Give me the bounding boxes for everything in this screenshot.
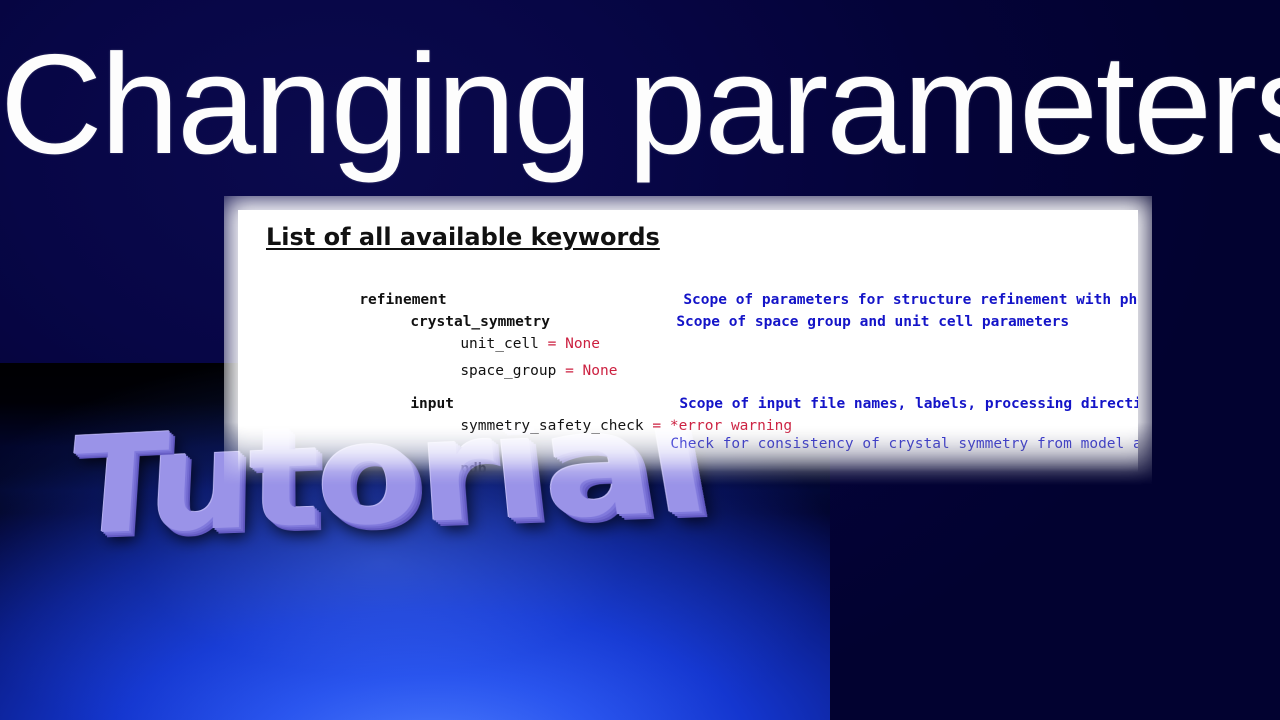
- slide-root: Changing parameters Tutorial Tutorial Li…: [0, 0, 1280, 720]
- code-row-symmetry-check-note: Check for consistency of crystal symmetr…: [583, 420, 1138, 468]
- keyword-space-group: space_group: [460, 363, 556, 379]
- code-row-crystal-symmetry-desc: Scope of space group and unit cell param…: [589, 298, 1069, 346]
- equals-space-group: =: [565, 363, 574, 379]
- panel-surface: List of all available keywords refinemen…: [238, 210, 1138, 472]
- panel-heading: List of all available keywords: [266, 222, 660, 252]
- page-title: Changing parameters: [0, 30, 1280, 180]
- code-row-file-name: file_name = None Model file(s) name (PDB…: [423, 466, 886, 472]
- value-space-group: None: [583, 363, 618, 379]
- keywords-panel: List of all available keywords refinemen…: [238, 210, 1138, 472]
- keyword-listing: refinement Scope of parameters for struc…: [238, 268, 1138, 472]
- desc-crystal-symmetry: Scope of space group and unit cell param…: [676, 314, 1069, 330]
- desc-symmetry-check-note: Check for consistency of crystal symmetr…: [670, 436, 1138, 452]
